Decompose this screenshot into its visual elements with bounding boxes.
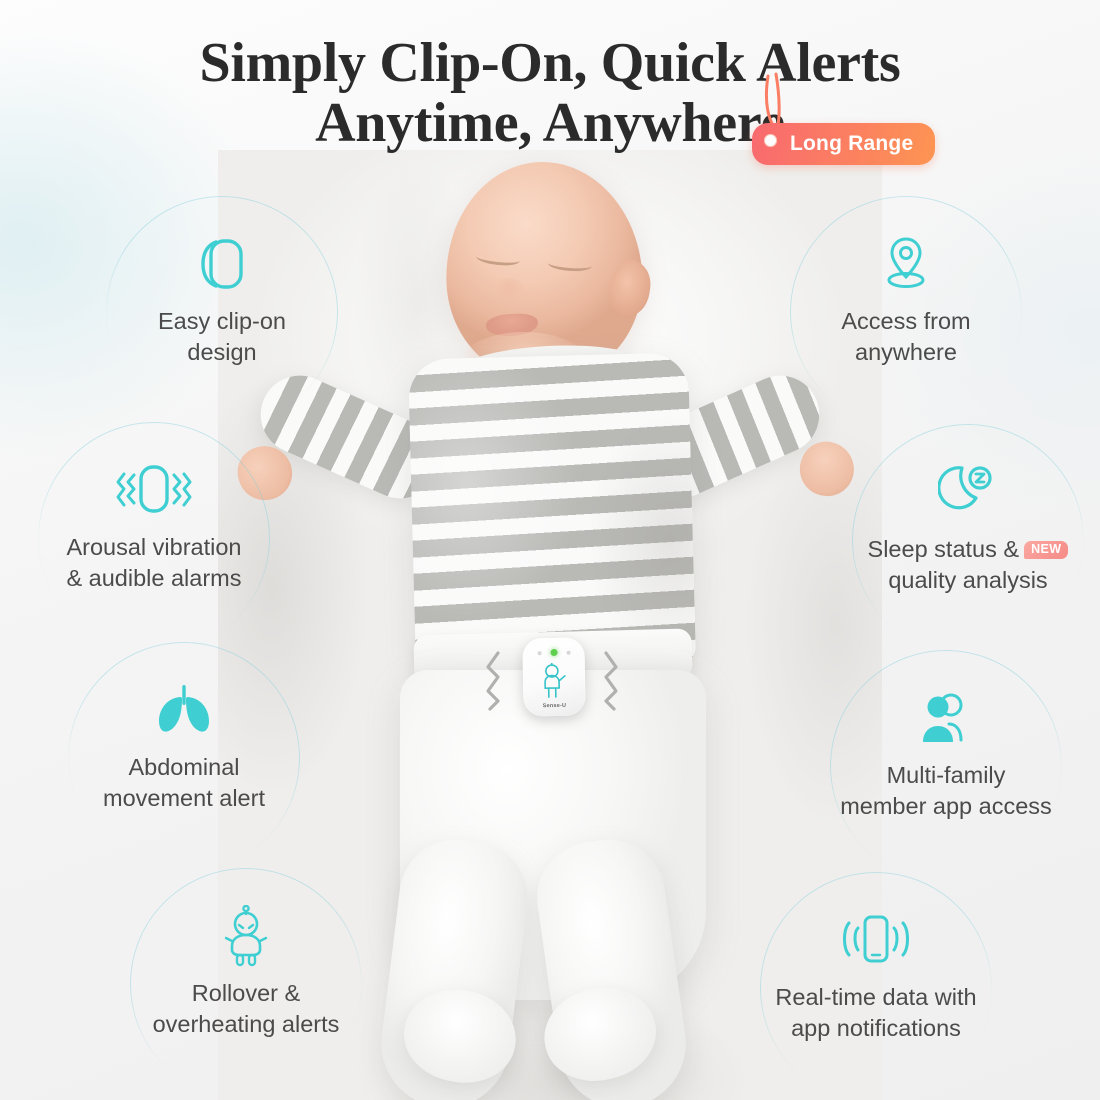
feature-line-1: Abdominal [128,754,239,780]
feature-multi-family-access[interactable]: Multi-family member app access [830,650,1062,882]
feature-line-2: member app access [840,791,1052,822]
device-led-status [566,650,570,654]
feature-line-2: & audible alarms [66,563,241,594]
feature-text: Multi-family member app access [840,760,1052,822]
feature-text: Access from anywhere [841,306,970,368]
feature-line-1: Rollover & [192,980,300,1006]
feature-realtime-notifications[interactable]: Real-time data with app notifications [760,872,992,1100]
feature-sleep-status[interactable]: Sleep status &NEW quality analysis [852,424,1084,656]
feature-line-2: design [158,337,286,368]
feature-line-1: Sleep status & [868,536,1020,562]
moon-z-icon [938,462,998,522]
sense-u-monitor-device[interactable]: Sense-U [522,637,585,716]
feature-rollover-overheating[interactable]: Rollover & overheating alerts [130,868,362,1100]
long-range-label: Long Range [752,123,935,165]
headline-line-2: Anytime, Anywhere [315,94,785,154]
feature-line-1: Multi-family [887,762,1006,788]
device-led-row [523,648,585,656]
feature-line-2: overheating alerts [153,1009,340,1040]
striped-onesie-torso [408,352,696,671]
feature-arousal-vibration[interactable]: Arousal vibration & audible alarms [38,422,270,654]
vibration-wave-right-icon [598,650,624,712]
lungs-icon [153,680,215,740]
feature-text: Arousal vibration & audible alarms [66,532,241,594]
feature-abdominal-movement[interactable]: Abdominal movement alert [68,642,300,874]
feature-line-2: quality analysis [868,565,1069,596]
two-people-icon [915,688,977,748]
device-led-indicator [537,651,541,655]
baby-icon [220,906,272,966]
feature-line-1: Access from [841,308,970,334]
feature-text: Abdominal movement alert [103,752,265,814]
clip-on-icon [196,234,248,294]
feature-easy-clip-on[interactable]: Easy clip-on design [106,196,338,428]
vibration-icon [106,460,202,520]
feature-text: Rollover & overheating alerts [153,978,340,1040]
device-brand-label: Sense-U [523,702,585,709]
device-led-power [550,649,557,656]
feature-line-1: Easy clip-on [158,308,286,334]
vibration-wave-left-icon [480,650,506,712]
feature-line-2: movement alert [103,783,265,814]
product-infographic: Sense-U Simply Clip-On, Quick Alerts Any… [0,0,1100,1100]
tag-hole-icon [764,134,777,147]
phone-signal-icon [834,910,918,970]
location-pin-icon [878,234,934,294]
feature-text: Real-time data with app notifications [775,982,976,1044]
headline-line-1: Simply Clip-On, Quick Alerts [0,34,1100,94]
long-range-tag: Long Range [744,104,944,180]
feature-access-anywhere[interactable]: Access from anywhere [790,196,1022,428]
feature-text: Sleep status &NEW quality analysis [868,534,1069,596]
baby-logo-icon [539,662,570,701]
feature-text: Easy clip-on design [158,306,286,368]
feature-line-1: Real-time data with [775,984,976,1010]
new-badge: NEW [1024,541,1068,559]
feature-line-2: anywhere [841,337,970,368]
feature-line-1: Arousal vibration [66,534,241,560]
feature-line-2: app notifications [775,1013,976,1044]
baby-nose [492,278,526,304]
